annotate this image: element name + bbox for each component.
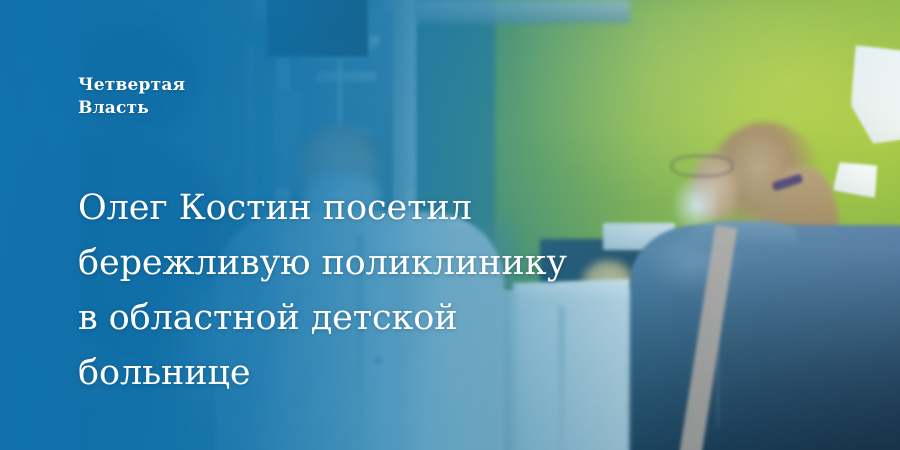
- site-logo[interactable]: Четвертая Власть: [78, 74, 185, 120]
- card-content: Четвертая Власть Олег Костин посетил бер…: [78, 0, 900, 450]
- article-headline[interactable]: Олег Костин посетил бережливую поликлини…: [78, 181, 718, 401]
- news-card: Четвертая Власть Олег Костин посетил бер…: [0, 0, 900, 450]
- headline-line-2: бережливую поликлинику: [78, 236, 718, 291]
- headline-line-3: в областной детской: [78, 291, 718, 346]
- headline-line-1: Олег Костин посетил: [78, 181, 718, 236]
- headline-line-4: больнице: [78, 346, 718, 401]
